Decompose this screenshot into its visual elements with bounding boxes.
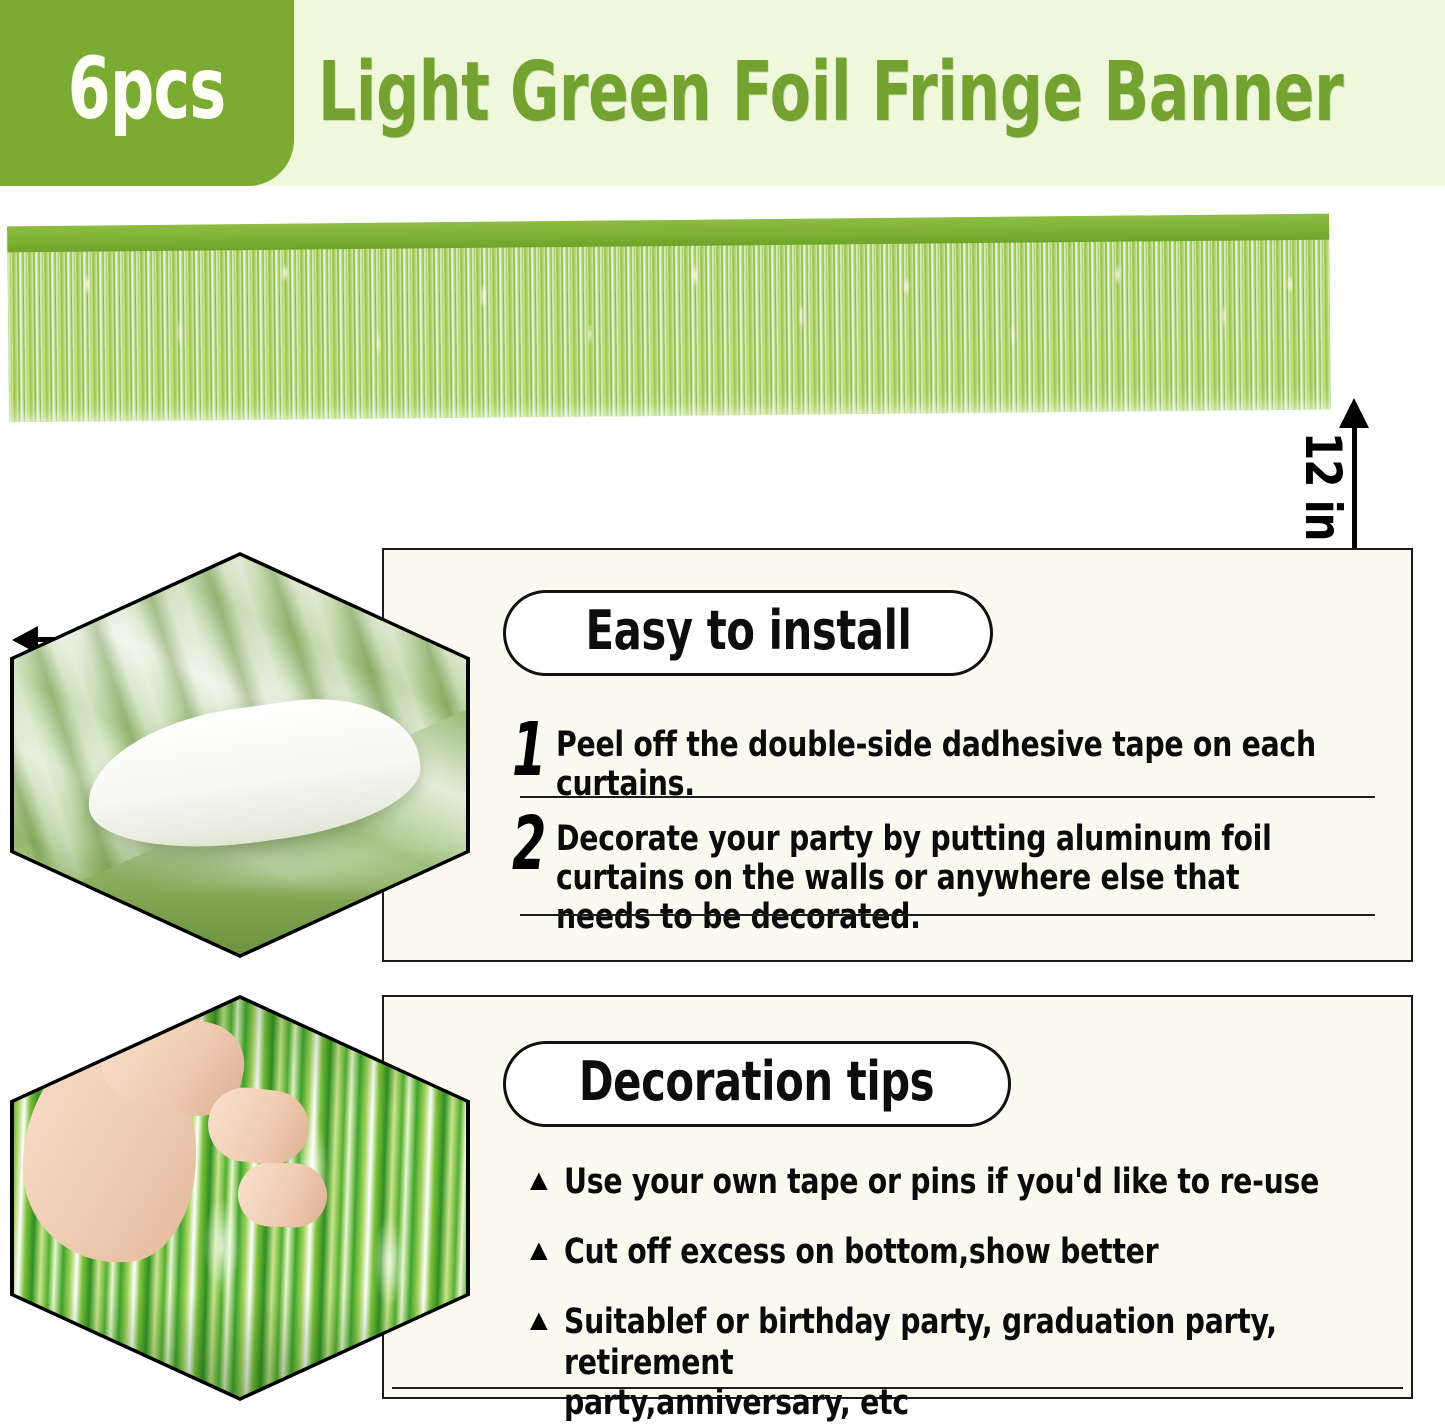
piece-count-badge: 6pcs <box>0 0 294 186</box>
step-number-2: 2 <box>512 816 545 874</box>
adhesive-tape-closeup-image <box>14 556 466 954</box>
tip-item-1: ▲ Use your own tape or pins if you'd lik… <box>524 1162 1424 1203</box>
install-title-label: Easy to install <box>585 604 911 663</box>
tip-item-2: ▲ Cut off excess on bottom,show better <box>524 1232 1424 1273</box>
tips-title-pill: Decoration tips <box>503 1041 1011 1127</box>
foil-bottom-shade <box>14 835 466 954</box>
install-title-pill: Easy to install <box>503 590 993 676</box>
header-bar: 6pcs Light Green Foil Fringe Banner <box>0 0 1445 186</box>
piece-count-label: 6pcs <box>68 46 226 140</box>
tip-text-3: Suitablef or birthday party, graduation … <box>564 1302 1338 1424</box>
tip-text-2: Cut off excess on bottom,show better <box>564 1232 1338 1273</box>
install-step-2: 2 Decorate your party by putting aluminu… <box>512 820 1412 938</box>
easy-to-install-panel: Easy to install 1 Peel off the double-si… <box>0 548 1445 968</box>
step-number-1: 1 <box>512 722 545 780</box>
step-text-1: Peel off the double-side dadhesive tape … <box>556 726 1326 804</box>
decoration-tips-panel: Decoration tips ▲ Use your own tape or p… <box>0 995 1445 1405</box>
page-title: Light Green Foil Fringe Banner <box>318 0 1343 196</box>
tips-bottom-divider <box>392 1387 1403 1389</box>
install-step-1-divider <box>520 796 1375 798</box>
hand-illustration <box>23 1015 321 1262</box>
tips-title-label: Decoration tips <box>579 1055 934 1114</box>
hero-product-section: 12 in 10 ft <box>0 186 1445 538</box>
product-banner-photo <box>7 214 1331 423</box>
install-step-2-divider <box>520 914 1375 916</box>
step-text-2: Decorate your party by putting aluminum … <box>556 820 1326 938</box>
install-step-1: 1 Peel off the double-side dadhesive tap… <box>512 726 1412 804</box>
tip-item-3: ▲ Suitablef or birthday party, graduatio… <box>524 1302 1424 1424</box>
hand-holding-fringe-image <box>14 999 466 1397</box>
hand-finger <box>204 1084 313 1168</box>
tips-hexagon-photo <box>10 995 470 1401</box>
triangle-bullet-icon: ▲ <box>524 1164 564 1199</box>
tip-text-1: Use your own tape or pins if you'd like … <box>564 1162 1338 1203</box>
triangle-bullet-icon: ▲ <box>524 1304 564 1339</box>
install-hexagon-photo <box>10 552 470 958</box>
hand-finger <box>237 1161 329 1228</box>
triangle-bullet-icon: ▲ <box>524 1234 564 1269</box>
